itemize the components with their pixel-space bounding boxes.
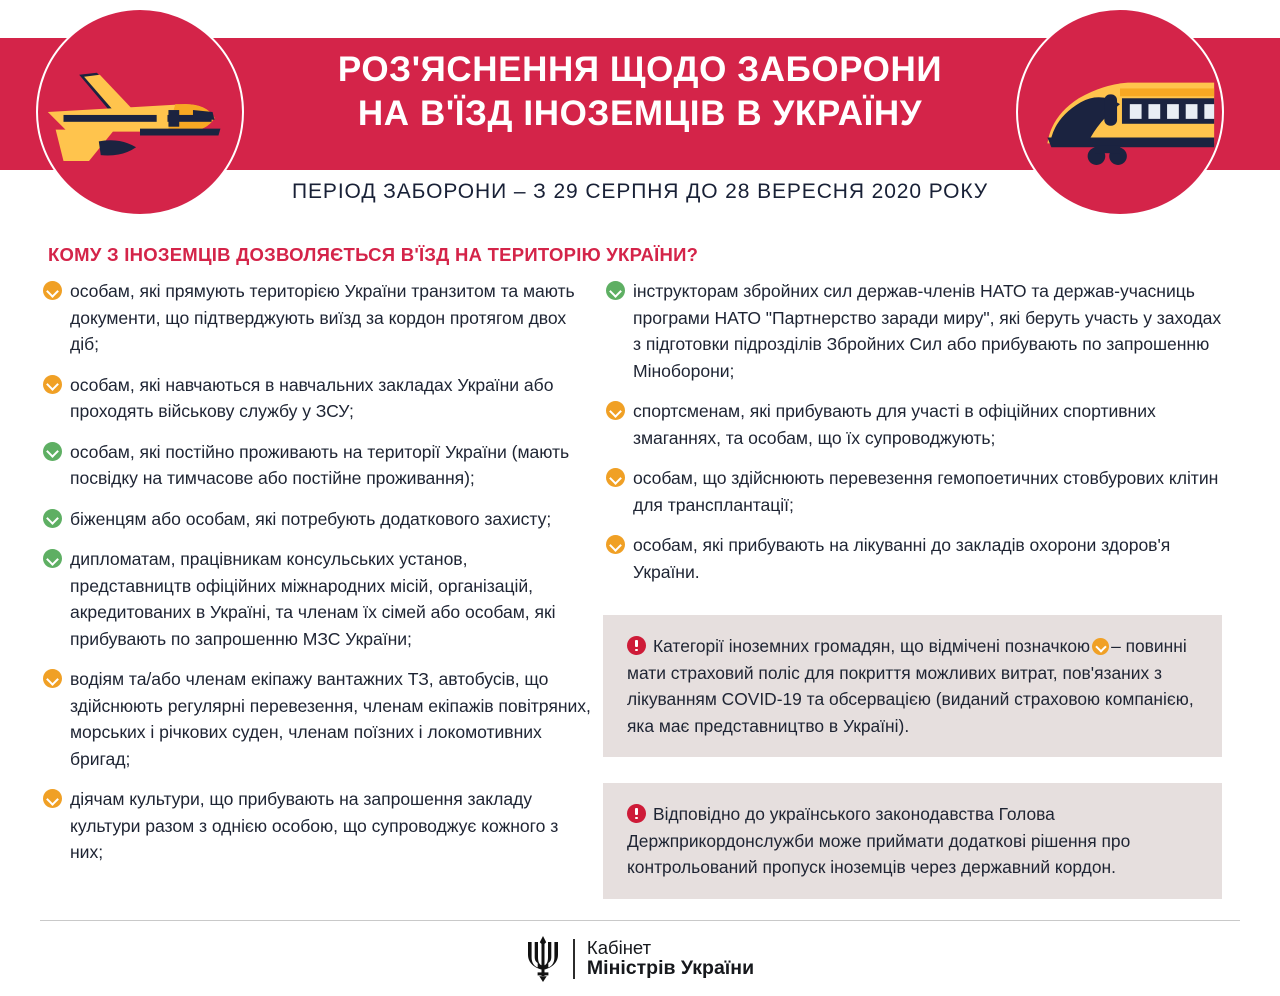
- chevron-down-circle-icon: [1092, 638, 1109, 655]
- list-item: дипломатам, працівникам консульських уст…: [40, 546, 592, 652]
- logo-text: Кабінет Міністрів України: [587, 938, 754, 981]
- chevron-down-circle-icon: [606, 401, 625, 420]
- warning-exclamation-icon: [627, 636, 646, 655]
- list-item: інструкторам збройних сил держав-членів …: [603, 278, 1222, 384]
- infographic-page: РОЗ'ЯСНЕННЯ ЩОДО ЗАБОРОНИ НА В'ЇЗД ІНОЗЕ…: [0, 0, 1280, 996]
- header-title-block: РОЗ'ЯСНЕННЯ ЩОДО ЗАБОРОНИ НА В'ЇЗД ІНОЗЕ…: [250, 48, 1030, 136]
- chevron-down-circle-icon: [43, 669, 62, 688]
- ukraine-tryzub-icon: [526, 936, 560, 982]
- chevron-down-circle-icon: [43, 549, 62, 568]
- list-item: особам, які постійно проживають на терит…: [40, 439, 592, 492]
- chevron-down-circle-icon: [606, 468, 625, 487]
- list-item-label: інструкторам збройних сил держав-членів …: [633, 278, 1222, 384]
- list-item: водіям та/або членам екіпажу вантажних Т…: [40, 666, 592, 772]
- list-item: особам, що здійснюють перевезення гемопо…: [603, 465, 1222, 518]
- list-item: діячам культури, що прибувають на запрош…: [40, 786, 592, 866]
- footer-divider: [40, 920, 1240, 921]
- list-item-label: особам, що здійснюють перевезення гемопо…: [633, 465, 1222, 518]
- ban-period-subtitle: ПЕРІОД ЗАБОРОНИ – З 29 СЕРПНЯ ДО 28 ВЕРЕ…: [0, 180, 1280, 204]
- logo-divider: [573, 939, 575, 979]
- notes-container: Категорії іноземних громадян, що відміче…: [603, 615, 1222, 899]
- allowed-list-left: особам, які прямують територією України …: [0, 278, 600, 880]
- header: РОЗ'ЯСНЕННЯ ЩОДО ЗАБОРОНИ НА В'ЇЗД ІНОЗЕ…: [0, 0, 1280, 222]
- logo-line-1: Кабінет: [587, 938, 754, 959]
- list-item-label: діячам культури, що прибувають на запрош…: [70, 786, 592, 866]
- chevron-down-circle-icon: [43, 509, 62, 528]
- chevron-down-circle-icon: [606, 281, 625, 300]
- header-title-line-2: НА В'ЇЗД ІНОЗЕМЦІВ В УКРАЇНУ: [250, 92, 1030, 136]
- note-border-guard-authority: Відповідно до українського законодавства…: [603, 783, 1222, 899]
- list-item: особам, які прибувають на лікуванні до з…: [603, 532, 1222, 585]
- note-text: Відповідно до українського законодавства…: [627, 801, 1200, 881]
- cabinet-of-ministers-logo: Кабінет Міністрів України: [0, 936, 1280, 982]
- list-item: особам, які прямують територією України …: [40, 278, 592, 358]
- page-title: КОМУ З ІНОЗЕМЦІВ ДОЗВОЛЯЄТЬСЯ В'ЇЗД НА Т…: [48, 244, 698, 266]
- list-item: спортсменам, які прибувають для участі в…: [603, 398, 1222, 451]
- footer: Кабінет Міністрів України: [0, 920, 1280, 996]
- header-title-line-1: РОЗ'ЯСНЕННЯ ЩОДО ЗАБОРОНИ: [250, 48, 1030, 92]
- list-item-label: спортсменам, які прибувають для участі в…: [633, 398, 1222, 451]
- chevron-down-circle-icon: [43, 442, 62, 461]
- warning-exclamation-icon: [627, 804, 646, 823]
- note-text-before: Категорії іноземних громадян, що відміче…: [653, 636, 1090, 656]
- chevron-down-circle-icon: [606, 535, 625, 554]
- chevron-down-circle-icon: [43, 281, 62, 300]
- list-item-label: особам, які прямують територією України …: [70, 278, 592, 358]
- list-item: біженцям або особам, які потребують дода…: [40, 506, 592, 533]
- list-item-label: особам, які навчаються в навчальних закл…: [70, 372, 592, 425]
- list-item-label: особам, які постійно проживають на терит…: [70, 439, 592, 492]
- content-columns: особам, які прямують територією України …: [0, 278, 1280, 899]
- note-insurance-requirement: Категорії іноземних громадян, що відміче…: [603, 615, 1222, 757]
- chevron-down-circle-icon: [43, 375, 62, 394]
- list-item-label: особам, які прибувають на лікуванні до з…: [633, 532, 1222, 585]
- list-item: особам, які навчаються в навчальних закл…: [40, 372, 592, 425]
- list-item-label: біженцям або особам, які потребують дода…: [70, 506, 592, 533]
- allowed-list-right: інструкторам збройних сил держав-членів …: [600, 278, 1250, 899]
- list-item-label: водіям та/або членам екіпажу вантажних Т…: [70, 666, 592, 772]
- logo-line-2: Міністрів України: [587, 958, 754, 980]
- note-text: Категорії іноземних громадян, що відміче…: [627, 633, 1200, 739]
- list-item-label: дипломатам, працівникам консульських уст…: [70, 546, 592, 652]
- chevron-down-circle-icon: [43, 789, 62, 808]
- note-text-before: Відповідно до українського законодавства…: [627, 804, 1130, 877]
